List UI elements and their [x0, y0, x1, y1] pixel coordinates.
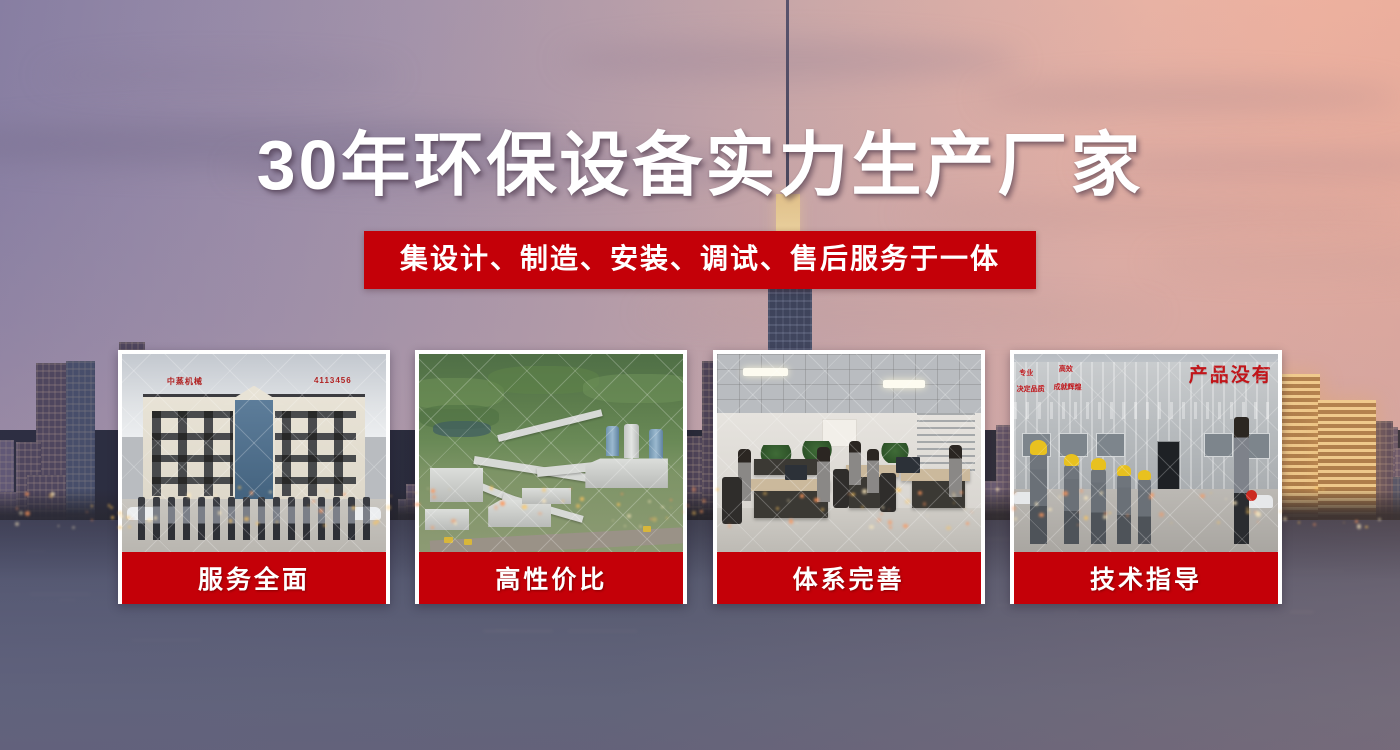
city-light — [1254, 511, 1256, 513]
city-light — [789, 519, 794, 524]
city-light — [1084, 496, 1088, 500]
building-phone-text: 4113456 — [314, 376, 352, 385]
city-light — [1103, 515, 1107, 519]
city-light — [218, 511, 222, 515]
city-light — [888, 520, 892, 524]
city-light — [964, 508, 966, 510]
city-light — [494, 505, 498, 509]
city-light — [1315, 487, 1319, 491]
city-light — [918, 491, 922, 495]
city-light — [702, 499, 706, 503]
city-light — [238, 486, 241, 489]
city-light — [648, 500, 651, 503]
city-light — [276, 521, 278, 523]
city-light — [427, 488, 429, 490]
feature-card[interactable]: 体系完善 — [713, 350, 985, 604]
city-light — [111, 516, 114, 519]
staff-row — [138, 497, 370, 541]
city-light — [800, 494, 804, 498]
city-light — [1357, 524, 1361, 528]
city-light — [312, 500, 314, 502]
red-helmet — [1246, 490, 1257, 501]
city-light — [996, 488, 998, 490]
building-sign-text: 中蒸机械 — [167, 376, 203, 387]
factory-sign-word: 决定品质 — [1017, 384, 1045, 394]
city-light — [538, 512, 541, 515]
city-light — [214, 494, 216, 496]
city-light — [416, 503, 419, 506]
city-light — [432, 495, 436, 499]
city-light — [308, 505, 310, 507]
city-light — [877, 518, 881, 522]
city-light — [814, 498, 818, 502]
city-light — [763, 492, 767, 496]
city-light — [624, 525, 626, 527]
city-light — [1126, 514, 1129, 517]
city-light — [390, 495, 392, 497]
city-light — [570, 488, 572, 490]
city-light — [352, 506, 356, 510]
city-light — [905, 499, 910, 504]
city-light — [415, 492, 417, 494]
city-light — [666, 517, 669, 520]
city-light — [612, 520, 614, 522]
city-light — [187, 493, 191, 497]
city-light — [386, 505, 391, 510]
city-light — [319, 509, 323, 513]
city-light — [1355, 520, 1358, 523]
subtitle-banner: 集设计、制造、安装、调试、售后服务于一体 — [364, 231, 1036, 289]
feature-card-list: 中蒸机械 4113456 服务全面 — [118, 350, 1282, 604]
page-title: 30年环保设备实力生产厂家 — [0, 128, 1400, 202]
city-light — [500, 501, 505, 506]
city-light — [971, 511, 973, 513]
card-caption: 技术指导 — [1014, 552, 1278, 604]
feature-card[interactable]: 产品没有 专业 高效 决定品质 成就辉煌 — [1010, 350, 1282, 604]
city-light — [86, 511, 88, 513]
city-light — [692, 487, 697, 492]
city-light — [1298, 521, 1300, 523]
feature-card[interactable]: 高性价比 — [415, 350, 687, 604]
city-light — [1048, 508, 1051, 511]
factory-sign-word: 专业 — [1019, 368, 1033, 378]
city-light — [51, 492, 55, 496]
city-light — [120, 515, 122, 517]
card-photo-company-building: 中蒸机械 4113456 — [122, 354, 386, 552]
card-photo-industrial-plant — [419, 354, 683, 552]
city-light — [580, 497, 584, 501]
city-light — [1058, 495, 1062, 499]
city-light — [1084, 516, 1088, 520]
city-light — [966, 522, 969, 525]
city-light — [880, 513, 882, 515]
city-light — [147, 518, 152, 523]
factory-sign-word: 成就辉煌 — [1054, 382, 1082, 392]
city-light — [1100, 491, 1103, 494]
city-light — [542, 488, 546, 492]
city-light — [1256, 512, 1261, 517]
city-light — [19, 511, 23, 515]
city-light — [1104, 512, 1107, 515]
city-light — [869, 525, 874, 530]
city-light — [927, 515, 929, 517]
city-light — [343, 493, 346, 496]
city-light — [25, 492, 29, 496]
city-light — [776, 507, 779, 510]
city-light — [692, 511, 695, 514]
city-light — [617, 503, 620, 506]
city-light — [326, 490, 328, 492]
factory-sign-word: 高效 — [1059, 364, 1073, 374]
city-light — [882, 506, 885, 509]
city-light — [952, 494, 956, 498]
city-light — [1217, 521, 1220, 524]
city-light — [661, 506, 664, 509]
city-light — [1159, 512, 1163, 516]
city-light — [861, 506, 863, 508]
city-light — [126, 516, 130, 520]
city-light — [1378, 518, 1380, 520]
city-light — [1039, 513, 1043, 517]
city-light — [131, 518, 133, 520]
city-light — [91, 519, 93, 521]
promo-banner: 30年环保设备实力生产厂家 集设计、制造、安装、调试、售后服务于一体 中蒸机械 … — [0, 0, 1400, 750]
city-light — [323, 524, 326, 527]
city-light — [1078, 511, 1080, 513]
city-light — [229, 519, 233, 523]
city-light — [1283, 517, 1287, 521]
city-light — [256, 522, 259, 525]
subtitle-bar-wrapper: 集设计、制造、安装、调试、售后服务于一体 — [0, 231, 1400, 289]
city-light — [1077, 524, 1079, 526]
city-light — [431, 526, 434, 529]
city-light — [25, 511, 30, 516]
city-light — [244, 517, 249, 522]
city-light — [576, 504, 580, 508]
supervisor-figure — [1234, 417, 1249, 544]
city-light — [621, 493, 623, 495]
city-light — [542, 499, 546, 503]
city-light — [108, 504, 111, 507]
city-light — [946, 526, 950, 530]
factory-sign-main: 产品没有 — [1189, 360, 1273, 387]
city-light — [15, 522, 19, 526]
feature-card[interactable]: 中蒸机械 4113456 服务全面 — [118, 350, 390, 604]
banner-content: 30年环保设备实力生产厂家 集设计、制造、安装、调试、售后服务于一体 中蒸机械 … — [0, 0, 1400, 750]
card-caption: 服务全面 — [122, 552, 386, 604]
card-photo-factory-workers: 产品没有 专业 高效 决定品质 成就辉煌 — [1014, 354, 1278, 552]
city-light — [1257, 521, 1259, 523]
city-light — [896, 488, 901, 493]
card-caption: 体系完善 — [717, 552, 981, 604]
city-light — [269, 491, 272, 494]
card-photo-office-interior — [717, 354, 981, 552]
city-light — [562, 500, 564, 502]
card-caption: 高性价比 — [419, 552, 683, 604]
city-light — [1012, 506, 1016, 510]
